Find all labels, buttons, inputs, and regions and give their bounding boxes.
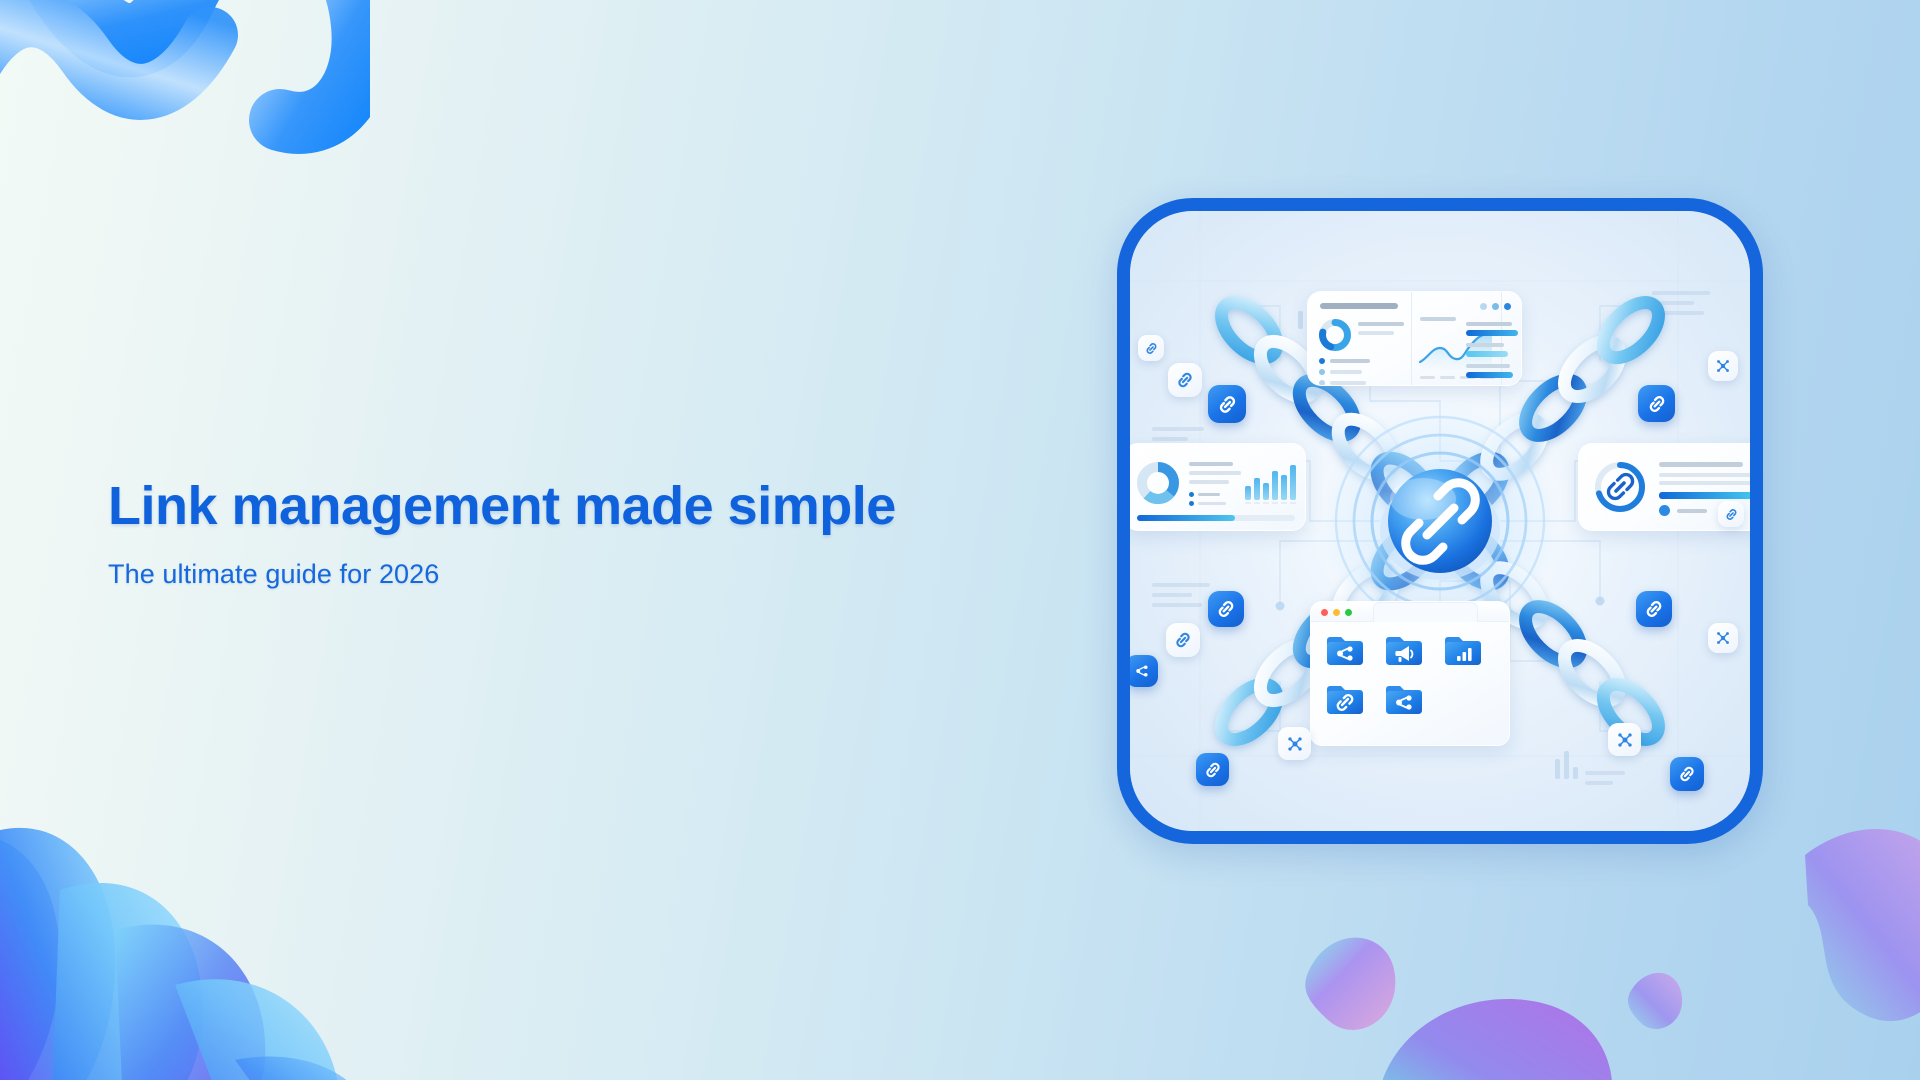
ribbon-shape-top-left xyxy=(0,0,370,215)
badge-link-8[interactable] xyxy=(1636,591,1672,627)
badge-network-4[interactable] xyxy=(1608,723,1641,756)
link-icon xyxy=(1203,760,1223,780)
folder-grid xyxy=(1325,634,1495,716)
link-icon xyxy=(1173,630,1193,650)
card-title-bar xyxy=(1320,303,1398,309)
badge-link-3[interactable] xyxy=(1208,385,1246,423)
link-icon xyxy=(1215,598,1237,620)
analytics-card-left xyxy=(1130,443,1306,531)
hero-text-block: Link management made simple The ultimate… xyxy=(108,478,1008,590)
maximize-dot[interactable] xyxy=(1345,609,1352,616)
hero-illustration xyxy=(1130,211,1750,831)
badge-link-6[interactable] xyxy=(1196,753,1229,786)
link-icon xyxy=(1724,507,1739,522)
network-icon xyxy=(1285,734,1305,754)
network-icon xyxy=(1714,629,1732,647)
link-icon xyxy=(1216,393,1239,416)
dot-marker xyxy=(1659,505,1670,516)
progress-fill-left xyxy=(1137,515,1235,521)
link-icon xyxy=(1175,370,1195,390)
badge-share-1[interactable] xyxy=(1130,655,1158,687)
iridescent-blobs-bottom-right xyxy=(1260,810,1920,1080)
network-icon xyxy=(1615,730,1635,750)
badge-link-2[interactable] xyxy=(1168,363,1202,397)
link-icon xyxy=(1677,764,1697,784)
link-icon xyxy=(1646,393,1668,415)
badge-network-1[interactable] xyxy=(1278,727,1311,760)
badge-link-1[interactable] xyxy=(1138,335,1164,361)
file-browser-window[interactable] xyxy=(1310,601,1510,746)
donut-chart-left xyxy=(1135,460,1181,506)
close-dot[interactable] xyxy=(1321,609,1328,616)
donut-chart-icon xyxy=(1318,318,1352,352)
progress-track-left xyxy=(1137,515,1295,521)
link-icon xyxy=(1144,341,1159,356)
page-title: Link management made simple xyxy=(108,478,1008,535)
badge-network-2[interactable] xyxy=(1708,351,1738,381)
share-icon xyxy=(1133,662,1151,680)
badge-link-4[interactable] xyxy=(1208,591,1244,627)
folder-analytics[interactable] xyxy=(1443,634,1483,667)
badge-link-9[interactable] xyxy=(1670,757,1704,791)
bar-chart-left xyxy=(1243,460,1301,504)
minimize-dot[interactable] xyxy=(1333,609,1340,616)
bloom-shape-bottom-left xyxy=(0,810,380,1080)
dashboard-card-top xyxy=(1307,291,1522,386)
folder-campaign[interactable] xyxy=(1384,634,1424,667)
traffic-lights xyxy=(1321,609,1352,616)
link-icon xyxy=(1643,598,1665,620)
network-icon xyxy=(1714,357,1732,375)
page-subtitle: The ultimate guide for 2026 xyxy=(108,559,1008,590)
badge-link-7[interactable] xyxy=(1638,385,1675,422)
folder-share-2[interactable] xyxy=(1384,683,1424,716)
folder-share[interactable] xyxy=(1325,634,1365,667)
hero-illustration-frame xyxy=(1117,198,1763,844)
window-dots xyxy=(1480,303,1511,310)
badge-network-3[interactable] xyxy=(1708,623,1738,653)
badge-link-5[interactable] xyxy=(1166,623,1200,657)
badge-link-10[interactable] xyxy=(1718,501,1744,527)
window-tab[interactable] xyxy=(1373,602,1478,622)
folder-links[interactable] xyxy=(1325,683,1365,716)
progress-ring-right xyxy=(1591,458,1649,516)
window-title-bar xyxy=(1311,602,1509,622)
